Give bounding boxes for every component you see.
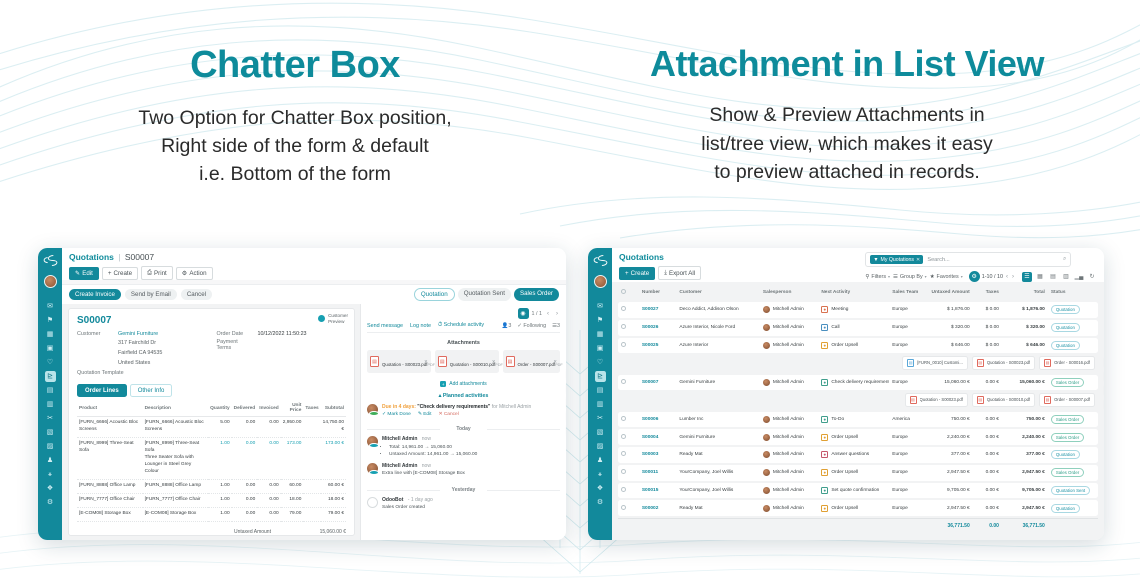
table-row[interactable]: S00026Azure Interior, Nicole FordMitchel… — [618, 320, 1098, 336]
close-icon[interactable]: ✕ — [492, 359, 496, 365]
cell-select[interactable] — [618, 500, 639, 516]
checkbox[interactable] — [621, 324, 626, 329]
col-unit-price[interactable]: Unit Price — [281, 401, 304, 417]
cell-product: [E-COM08] Storage Box — [77, 507, 143, 521]
day-separator-today: Today — [367, 426, 560, 432]
cell-number[interactable]: S00004 — [639, 429, 677, 445]
cell-taxes: 0.00 € — [973, 375, 1002, 391]
sidebar-item-settings[interactable]: ⚙ — [45, 497, 56, 508]
sidebar-item-invoicing[interactable]: ▨ — [45, 441, 56, 452]
cell-select[interactable] — [618, 338, 639, 354]
presence-dot — [369, 470, 379, 475]
col-quantity[interactable]: Quantity — [208, 401, 231, 417]
col-product[interactable]: Product — [77, 401, 143, 417]
status-badge: Quotation — [1051, 323, 1080, 332]
cell-number[interactable]: S00006 — [639, 412, 677, 428]
sidebar-item-apps[interactable]: ❖ — [595, 483, 606, 494]
sidebar-item-crm[interactable]: ♡ — [45, 357, 56, 368]
cell-sales-team: Europe — [889, 465, 927, 481]
customer-address-line-1: 317 Fairchild Dr — [118, 339, 156, 347]
following-button[interactable]: ✓ Following — [517, 323, 546, 329]
cell-sales-team: Europe — [889, 483, 927, 499]
pdf-file-icon: ▤ — [1044, 396, 1051, 404]
send-by-email-button[interactable]: Send by Email — [125, 289, 177, 300]
footer-spacer — [618, 518, 927, 532]
cell-taxes — [303, 438, 320, 480]
sidebar-item-apps[interactable]: ❖ — [45, 483, 56, 494]
cell-invoiced: 0.00 — [257, 417, 280, 438]
cell-number[interactable]: S00026 — [639, 320, 677, 336]
cell-salesperson: Mitchell Admin — [760, 338, 818, 354]
attachment-name: Order - S00007.pdf — [518, 362, 556, 367]
cell-next-activity: ●To-Do — [818, 412, 889, 428]
form-column-left: Customer Gemini Furniture 317 Fairchild … — [77, 331, 207, 378]
attachment-chip[interactable]: ▤Quotation - S00010.pdfPDF✕ — [435, 350, 499, 373]
following-label: Following — [523, 323, 546, 329]
col-taxes[interactable]: Taxes — [303, 401, 320, 417]
close-icon[interactable]: ✕ — [916, 257, 920, 263]
avatar[interactable] — [367, 404, 378, 415]
col-invoiced[interactable]: Invoiced — [257, 401, 280, 417]
stage-quotation[interactable]: Quotation — [414, 288, 455, 301]
cell-untaxed-amount: 2,240.00 € — [927, 429, 973, 445]
col-sales-team[interactable]: Sales Team — [889, 287, 927, 300]
sidebar-item-calendar[interactable]: ▦ — [595, 329, 606, 340]
checkbox[interactable] — [621, 487, 626, 492]
attachments-title: Attachments — [367, 340, 560, 346]
table-row[interactable]: S00025Azure InteriorMitchell Admin●Order… — [618, 338, 1098, 354]
message-time: - 1 day ago — [408, 497, 433, 503]
edit-button[interactable]: ✎ Edit — [69, 267, 99, 280]
message-bullet: Total: 14,961.00 → 15,060.00 — [389, 444, 560, 451]
cell-total: 2,947.50 € — [1002, 500, 1048, 516]
pager-prev-button[interactable]: ‹ — [1005, 274, 1009, 280]
sidebar-item-crm[interactable]: ♡ — [595, 357, 606, 368]
checkbox[interactable] — [621, 505, 626, 510]
sidebar-item-marketing[interactable]: ⚑ — [595, 315, 606, 326]
col-taxes[interactable]: Taxes — [973, 287, 1002, 300]
sidebar-item-calendar[interactable]: ▦ — [45, 329, 56, 340]
cell-unit-price: 18.00 — [281, 493, 304, 507]
table-row[interactable]: [FURN_6666] Acoustic Bloc Screens[FURN_6… — [77, 417, 346, 438]
col-untaxed-amount[interactable]: Untaxed Amount — [927, 287, 973, 300]
checkbox[interactable] — [621, 469, 626, 474]
cell-status: Sales Order — [1048, 465, 1098, 481]
cancel-button[interactable]: Cancel — [181, 289, 212, 300]
col-status[interactable]: Status — [1048, 287, 1098, 300]
message-bullets: Total: 14,961.00 → 15,060.00 Untaxed Amo… — [382, 444, 560, 458]
right-app-rail: ✉ ⚑ ▦ ▣ ♡ ⊵ ▤ ▥ ✂ ▧ ▨ ♟ ⚹ ❖ ⚙ — [588, 248, 612, 540]
chatter-next-button[interactable]: › — [554, 311, 560, 317]
followers-count-value: 3 — [508, 323, 511, 329]
cell-description: [FURN_8999] Three-Seat SofaThree Seater … — [143, 438, 209, 480]
avatar[interactable] — [44, 275, 57, 288]
edit-activity-label: Edit — [423, 412, 431, 417]
cell-next-activity: ●Set quote confirmation — [818, 483, 889, 499]
cell-status: Sales Order — [1048, 429, 1098, 445]
cell-total: 2,947.50 € — [1002, 465, 1048, 481]
mark-done-label: Mark Done — [387, 412, 410, 417]
right-toolbar: + Create ⤓ Export All — [619, 266, 701, 280]
col-number[interactable]: Number — [639, 287, 677, 300]
attachment-name: Order - S00007.pdf — [1054, 397, 1090, 402]
pivot-view-icon[interactable]: ▥ — [1061, 272, 1071, 282]
sidebar-item-contacts[interactable]: ▣ — [595, 343, 606, 354]
call-icon: ● — [821, 324, 828, 331]
message-text: Sales Order created — [382, 504, 560, 511]
cell-select[interactable] — [618, 465, 639, 481]
table-row[interactable]: [E-COM08] Storage Box[E-COM08] Storage B… — [77, 507, 346, 521]
attachment-chip[interactable]: ▤[FURN_0010] Customi... — [902, 356, 968, 369]
pager-range: 1-10 / 10 — [982, 274, 1003, 280]
export-all-button[interactable]: ⤓ Export All — [658, 266, 701, 280]
table-row[interactable]: S00015YourCompany, Joel WillisMitchell A… — [618, 483, 1098, 499]
avatar — [763, 434, 770, 441]
avatar[interactable] — [594, 275, 607, 288]
sidebar-item-recruitment[interactable]: ⚹ — [45, 469, 56, 480]
sidebar-item-manufacturing[interactable]: ✂ — [595, 413, 606, 424]
avatar[interactable] — [367, 436, 378, 447]
col-select-all[interactable] — [618, 287, 639, 300]
cell-subtotal: 18.00 € — [321, 493, 346, 507]
cell-number[interactable]: S00015 — [639, 483, 677, 499]
cell-sales-team: Europe — [889, 447, 927, 463]
checkbox[interactable] — [621, 306, 626, 311]
follower-badge[interactable]: ☰3 — [552, 323, 560, 329]
left-control-panel: Quotations | S00007 ✎ Edit + Create — [62, 248, 566, 280]
sidebar-item-sales[interactable]: ⊵ — [45, 371, 56, 382]
cell-taxes: 0.00 € — [973, 465, 1002, 481]
attachment-chip[interactable]: ▤Order - S00007.pdf — [1039, 393, 1095, 406]
sidebar-item-employees[interactable]: ♟ — [45, 455, 56, 466]
attachment-chip[interactable]: ▤Order - S00007.pdfPDF✕ — [503, 350, 560, 373]
cell-status: Quotation Sent — [1048, 483, 1098, 499]
pencil-icon: ✎ — [75, 270, 80, 277]
order-lines-body: [FURN_6666] Acoustic Bloc Screens[FURN_6… — [77, 417, 346, 522]
graph-view-icon[interactable]: ▁▄ — [1074, 272, 1084, 282]
activity-subject: "Check delivery requirements" — [417, 404, 490, 410]
activity-item: Due in 4 days: "Check delivery requireme… — [367, 404, 560, 417]
action-button-label: Action — [189, 270, 206, 277]
create-button[interactable]: + Create — [102, 267, 138, 280]
groupby-dropdown[interactable]: ☰ Group By▾ — [893, 274, 927, 280]
order-lines-table: Product Description Quantity Delivered I… — [77, 401, 346, 522]
add-attachments-label: Add attachments — [449, 381, 487, 387]
cell-sales-team: Europe — [889, 429, 927, 445]
avatar — [763, 487, 770, 494]
col-next-activity[interactable]: Next Activity — [818, 287, 889, 300]
breadcrumb: Quotations — [619, 252, 701, 262]
sidebar-item-inventory[interactable]: ▥ — [45, 399, 56, 410]
edit-activity-link[interactable]: ✎ Edit — [418, 412, 432, 417]
cell-select[interactable] — [618, 483, 639, 499]
customer-value[interactable]: Gemini Furniture — [118, 331, 158, 337]
attachment-name: Quotation - S00023.pdf — [987, 360, 1030, 365]
filters-label: Filters — [871, 274, 886, 280]
col-description[interactable]: Description — [143, 401, 209, 417]
pager-next-button[interactable]: › — [1011, 274, 1015, 280]
sidebar-item-invoicing[interactable]: ▨ — [595, 441, 606, 452]
settings-icon[interactable]: ⚙ — [969, 271, 980, 282]
breadcrumb-root[interactable]: Quotations — [619, 252, 664, 262]
cell-untaxed-amount: $ 646.00 — [927, 338, 973, 354]
plus-icon: + — [108, 270, 112, 277]
status-badge: Quotation — [1051, 341, 1080, 350]
search-icon[interactable]: ⌕ — [1063, 256, 1066, 263]
cell-number[interactable]: S00007 — [639, 375, 677, 391]
schedule-activity-button[interactable]: ⏱ Schedule activity — [438, 322, 484, 329]
attachment-name: Quotation - S00010.pdf — [987, 397, 1030, 402]
cell-invoiced: 0.00 — [257, 438, 280, 480]
col-customer[interactable]: Customer — [676, 287, 759, 300]
cell-delivered: 0.00 — [232, 417, 258, 438]
chatter-actions: Send message Log note ⏱ Schedule activit… — [367, 322, 560, 333]
cell-description: [E-COM08] Storage Box — [143, 507, 209, 521]
schedule-activity-label: Schedule activity — [444, 322, 484, 328]
checkbox[interactable] — [621, 416, 626, 421]
message-time: now — [422, 463, 431, 469]
avatar — [763, 505, 770, 512]
chatter-message: Mitchell Admin now Extra line with [E-CO… — [367, 463, 560, 478]
search-input[interactable]: ▼ My Quotations ✕ Search... ⌕ — [865, 252, 1071, 267]
create-invoice-button[interactable]: Create Invoice — [69, 289, 121, 300]
pdf-file-icon: ▤ — [438, 356, 447, 367]
cell-quantity: 1.00 — [208, 493, 231, 507]
hero-left-subtitle: Two Option for Chatter Box position, Rig… — [14, 104, 576, 189]
search-facet-my-quotations[interactable]: ▼ My Quotations ✕ — [870, 255, 923, 264]
cell-select[interactable] — [618, 412, 639, 428]
hero-left-title: Chatter Box — [14, 44, 576, 87]
cell-unit-price: 2,950.00 — [281, 417, 304, 438]
filters-dropdown[interactable]: ⚲ Filters▾ — [865, 274, 890, 280]
cell-select[interactable] — [618, 320, 639, 336]
footer-untaxed: 36,771.50 — [927, 518, 973, 532]
cell-taxes: 0.00 € — [973, 500, 1002, 516]
sidebar-item-settings[interactable]: ⚙ — [595, 497, 606, 508]
sidebar-item-purchase[interactable]: ▤ — [45, 385, 56, 396]
cell-sales-team: Europe — [889, 320, 927, 336]
chatter-avatar-icon[interactable]: ◉ — [518, 308, 529, 319]
hero-right-subtitle: Show & Preview Attachments in list/tree … — [566, 101, 1128, 186]
table-row[interactable]: S00002Ready MatMitchell Admin●Order Upse… — [618, 500, 1098, 516]
col-subtotal[interactable]: Subtotal — [321, 401, 346, 417]
cell-untaxed-amount: 377.00 € — [927, 447, 973, 463]
tab-order-lines[interactable]: Order Lines — [77, 384, 127, 397]
table-row[interactable]: S00003Ready MatMitchell Admin●Answer que… — [618, 447, 1098, 463]
sidebar-item-purchase[interactable]: ▤ — [595, 385, 606, 396]
cell-select[interactable] — [618, 447, 639, 463]
sidebar-item-marketing[interactable]: ⚑ — [45, 315, 56, 326]
groupby-label: Group By — [900, 274, 923, 280]
close-icon[interactable]: ✕ — [424, 359, 428, 365]
avatar — [763, 379, 770, 386]
cell-customer: Azure Interior — [676, 338, 759, 354]
attachment-chip[interactable]: ▤Quotation - S00010.pdf — [972, 393, 1035, 406]
create-button[interactable]: + Create — [619, 267, 655, 280]
odoo-logo-icon[interactable] — [42, 252, 59, 269]
table-row[interactable]: S00006Lumber IncMitchell Admin●To-DoAmer… — [618, 412, 1098, 428]
attachment-row: ▤[FURN_0010] Customi...▤Quotation - S000… — [618, 355, 1098, 372]
cell-status: Quotation — [1048, 338, 1098, 354]
kanban-view-icon[interactable]: ▦ — [1035, 272, 1045, 282]
mark-done-link[interactable]: ✓ Mark Done — [382, 412, 411, 417]
sidebar-item-recruitment[interactable]: ⚹ — [595, 469, 606, 480]
cell-number[interactable]: S00025 — [639, 338, 677, 354]
attachment-name: Quotation - S00023.pdf — [920, 397, 963, 402]
odoo-logo-icon[interactable] — [592, 252, 609, 269]
message-author[interactable]: Mitchell Admin — [382, 436, 417, 442]
table-row[interactable]: [FURN_8888] Office Lamp[FURN_8888] Offic… — [77, 480, 346, 494]
page-title: S00007 — [77, 315, 346, 326]
cell-delivered: 0.00 — [232, 507, 258, 521]
sidebar-item-accounting[interactable]: ▧ — [45, 427, 56, 438]
cell-status: Quotation — [1048, 302, 1098, 318]
payment-terms-label: Payment Terms — [217, 339, 253, 351]
favorites-label: Favorites — [937, 274, 959, 280]
cell-total: $ 646.00 — [1002, 338, 1048, 354]
cell-untaxed-amount: 750.00 € — [927, 412, 973, 428]
sidebar-item-contacts[interactable]: ▣ — [45, 343, 56, 354]
cell-select[interactable] — [618, 375, 639, 391]
cell-sales-team: Europe — [889, 375, 927, 391]
cancel-activity-label: Cancel — [444, 412, 459, 417]
list-pager: ⚙ 1-10 / 10 ‹ › — [969, 271, 1015, 282]
favorites-dropdown[interactable]: ★ Favorites▾ — [930, 274, 963, 280]
checkbox[interactable] — [621, 434, 626, 439]
customer-label: Customer — [77, 331, 113, 337]
cell-quantity: 1.00 — [208, 438, 231, 480]
activity-view-icon[interactable]: ↻ — [1087, 272, 1097, 282]
screenshot-form-view: ✉ ⚑ ▦ ▣ ♡ ⊵ ▤ ▥ ✂ ▧ ▨ ♟ ⚹ ❖ ⚙ Quotations… — [38, 248, 566, 540]
followers-count[interactable]: 👤3 — [502, 323, 512, 329]
attachment-chip[interactable]: ▤Quotation - S00023.pdf — [905, 393, 968, 406]
cell-select[interactable] — [618, 302, 639, 318]
message-author[interactable]: Mitchell Admin — [382, 463, 417, 469]
order-lines-header: Product Description Quantity Delivered I… — [77, 401, 346, 417]
cell-quantity: 1.00 — [208, 480, 231, 494]
table-row[interactable]: S00007Gemini FurnitureMitchell Admin●Che… — [618, 375, 1098, 391]
cell-invoiced: 0.00 — [257, 480, 280, 494]
stage-sales-order[interactable]: Sales Order — [514, 288, 559, 301]
table-row[interactable]: S00011YourCompany, Joel WillisMitchell A… — [618, 465, 1098, 481]
cell-salesperson: Mitchell Admin — [760, 320, 818, 336]
cell-subtotal: 60.00 € — [321, 480, 346, 494]
table-row[interactable]: S00027Deco Addict, Addison OlsonMitchell… — [618, 302, 1098, 318]
sidebar-item-manufacturing[interactable]: ✂ — [45, 413, 56, 424]
clock-icon: ● — [821, 379, 828, 386]
attachment-type: PDF — [427, 363, 435, 367]
breadcrumb-root[interactable]: Quotations — [69, 252, 114, 262]
stage-quotation-sent[interactable]: Quotation Sent — [458, 288, 511, 301]
col-salesperson[interactable]: Salesperson — [760, 287, 818, 300]
gear-icon: ⚙ — [182, 270, 188, 277]
day-separator-yesterday: Yesterday — [367, 487, 560, 493]
cell-taxes: $ 0.00 — [973, 302, 1002, 318]
chatter-page-count: 1 / 1 — [532, 311, 543, 317]
form-column-right: Order Date 10/12/2022 11:50:23 Payment T… — [217, 331, 347, 378]
cell-number[interactable]: S00002 — [639, 500, 677, 516]
sidebar-item-sales[interactable]: ⊵ — [595, 371, 606, 382]
todo-icon: ● — [821, 416, 828, 423]
action-button[interactable]: ⚙ Action — [176, 267, 213, 280]
cell-quantity: 5.00 — [208, 417, 231, 438]
cell-description: [FURN_8888] Office Lamp — [143, 480, 209, 494]
cell-taxes: 0.00 € — [973, 429, 1002, 445]
order-date-value[interactable]: 10/12/2022 11:50:23 — [258, 331, 307, 337]
tab-other-info[interactable]: Other Info — [130, 384, 173, 397]
breadcrumb-separator: | — [118, 252, 120, 262]
table-row[interactable]: [FURN_7777] Office Chair[FURN_7777] Offi… — [77, 493, 346, 507]
attachment-chip[interactable]: ▤Quotation - S00023.pdf — [972, 356, 1035, 369]
cell-customer: Ready Mat — [676, 500, 759, 516]
table-row[interactable]: S00004Gemini FurnitureMitchell Admin●Ord… — [618, 429, 1098, 445]
sidebar-item-employees[interactable]: ♟ — [595, 455, 606, 466]
checkbox[interactable] — [621, 289, 626, 294]
cell-select[interactable] — [618, 429, 639, 445]
left-toolbar: ✎ Edit + Create ⎙ Print ⚙ Action — [69, 266, 559, 280]
sidebar-item-messages[interactable]: ✉ — [595, 301, 606, 312]
right-control-panel: Quotations + Create ⤓ Export All — [612, 248, 1104, 282]
avatar — [763, 306, 770, 313]
col-total[interactable]: Total — [1002, 287, 1048, 300]
chevron-down-icon: ▾ — [925, 274, 927, 279]
add-attachments-button[interactable]: + Add attachments — [367, 381, 560, 387]
sidebar-item-accounting[interactable]: ▧ — [595, 427, 606, 438]
cell-customer: Lumber Inc — [676, 412, 759, 428]
calendar-view-icon[interactable]: ▤ — [1048, 272, 1058, 282]
form-sheet-wrap: Customer Preview S00007 Customer Gemini … — [62, 304, 360, 540]
planned-activities-title[interactable]: ▴ Planned activities — [367, 393, 560, 399]
spacer-1 — [77, 339, 113, 347]
create-button-label: Create — [113, 270, 132, 277]
list-view-icon[interactable]: ☰ — [1022, 272, 1032, 282]
attachment-name: Order - S00016.pdf — [1054, 360, 1090, 365]
checkbox[interactable] — [621, 379, 626, 384]
message-author[interactable]: OdooBot — [382, 497, 403, 503]
print-button[interactable]: ⎙ Print — [141, 266, 173, 280]
avatar — [763, 324, 770, 331]
attachment-chip-row: ▤Quotation - S00023.pdfPDF✕▤Quotation - … — [367, 350, 560, 373]
cell-number[interactable]: S00011 — [639, 465, 677, 481]
cell-next-activity: ●Order Upsell — [818, 465, 889, 481]
sidebar-item-messages[interactable]: ✉ — [45, 301, 56, 312]
log-note-button[interactable]: Log note — [410, 323, 431, 329]
attachment-chip[interactable]: ▤Order - S00016.pdf — [1039, 356, 1095, 369]
close-icon[interactable]: ✕ — [553, 359, 557, 365]
footer-total: 36,771.50 — [1002, 518, 1048, 532]
chatter-prev-button[interactable]: ‹ — [545, 311, 551, 317]
sidebar-item-inventory[interactable]: ▥ — [595, 399, 606, 410]
bot-avatar[interactable] — [367, 497, 378, 508]
cell-number[interactable]: S00027 — [639, 302, 677, 318]
attachment-chip[interactable]: ▤Quotation - S00023.pdfPDF✕ — [367, 350, 431, 373]
cancel-activity-link[interactable]: ✕ Cancel — [438, 412, 458, 417]
cell-taxes: $ 0.00 — [973, 320, 1002, 336]
customer-preview-button[interactable]: Customer Preview — [318, 313, 348, 324]
send-message-button[interactable]: Send message — [367, 323, 403, 329]
cell-number[interactable]: S00003 — [639, 447, 677, 463]
col-delivered[interactable]: Delivered — [232, 401, 258, 417]
table-row[interactable]: [FURN_8999] Three-Seat Sofa[FURN_8999] T… — [77, 438, 346, 480]
cell-untaxed-amount: 2,947.50 € — [927, 500, 973, 516]
footer-taxes: 0.00 — [973, 518, 1002, 532]
breadcrumb-record: S00007 — [125, 252, 154, 262]
cell-total: 377.00 € — [1002, 447, 1048, 463]
checkbox[interactable] — [621, 342, 626, 347]
checkbox[interactable] — [621, 451, 626, 456]
cell-total: $ 320.00 — [1002, 320, 1048, 336]
avatar[interactable] — [367, 463, 378, 474]
